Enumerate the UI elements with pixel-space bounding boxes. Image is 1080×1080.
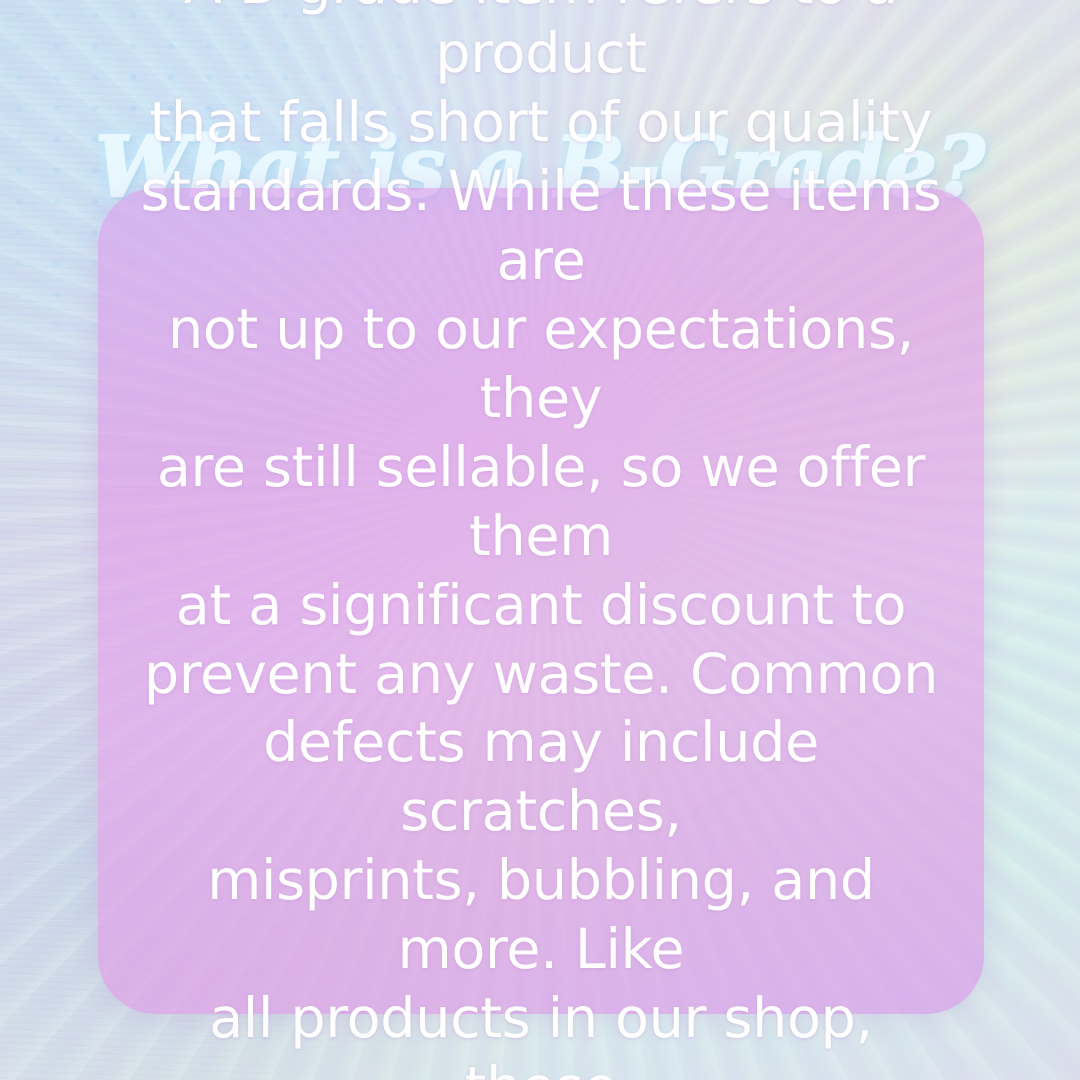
- description-card: A B-grade item refers to a productthat f…: [98, 188, 984, 1014]
- poster-canvas: What is a B-Grade? A B-grade item refers…: [0, 0, 1080, 1080]
- description-paragraph: A B-grade item refers to a productthat f…: [128, 0, 954, 1080]
